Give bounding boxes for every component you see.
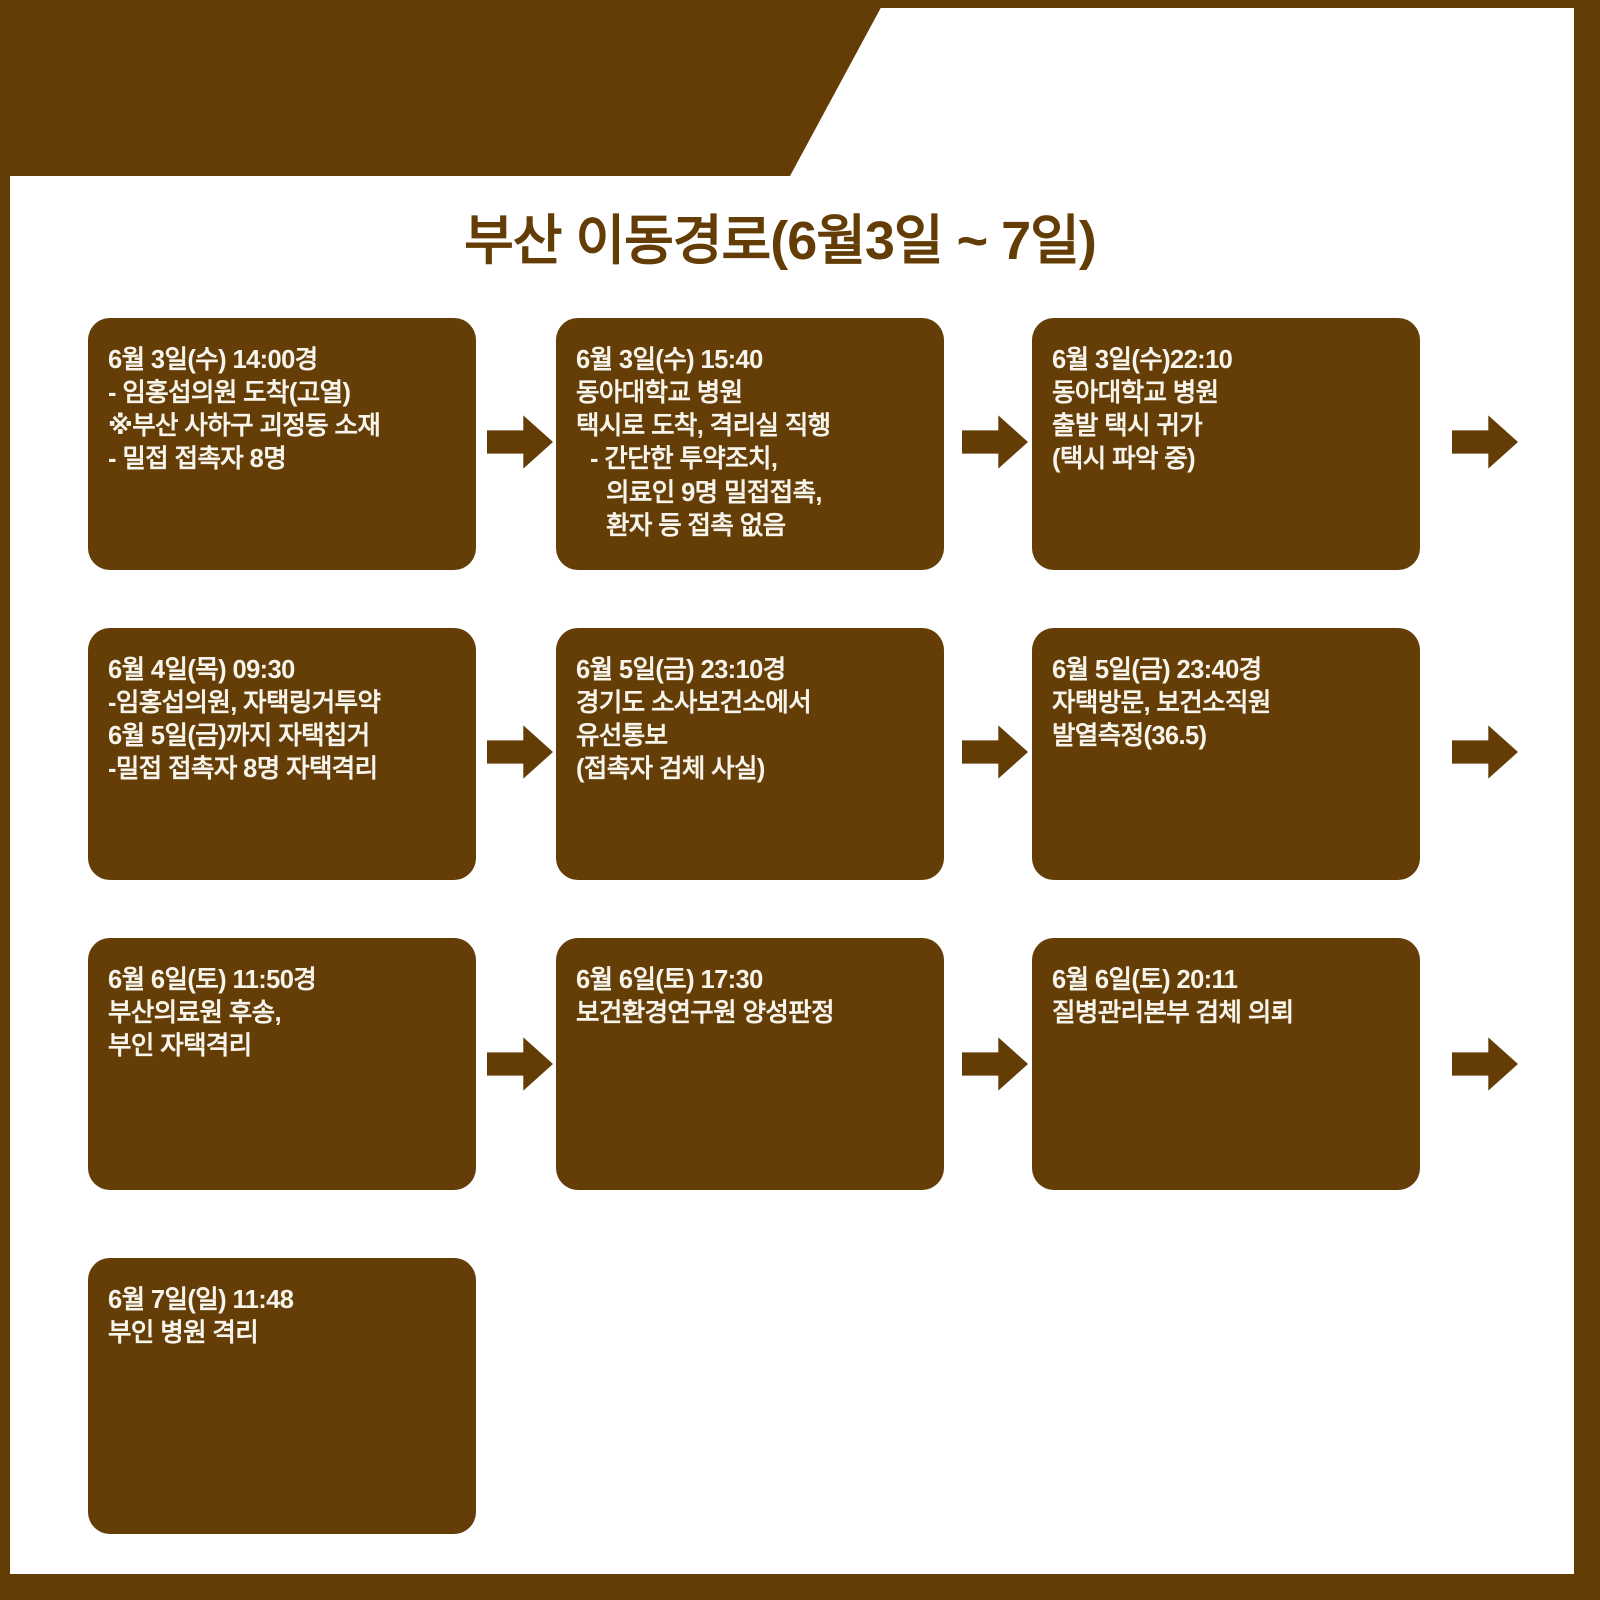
flow-step-line: 의료인 9명 밀접접촉,	[576, 477, 926, 510]
flow-step-line: - 밀접 접촉자 8명	[108, 443, 458, 476]
right-arrow-icon	[962, 1035, 1028, 1093]
flow-step-box: 6월 6일(토) 17:30보건환경연구원 양성판정	[556, 938, 944, 1190]
flow-step-line: 부산의료원 후송,	[108, 997, 458, 1030]
header-banner	[0, 0, 900, 176]
flow-step-line: 출발 택시 귀가	[1052, 410, 1402, 443]
flow-step-box: 6월 3일(수) 14:00경- 임홍섭의원 도착(고열)※부산 사하구 괴정동…	[88, 318, 476, 570]
flow-step-line: -임홍섭의원, 자택링거투약	[108, 687, 458, 720]
flow-step-line: 부인 병원 격리	[108, 1317, 458, 1350]
flow-step-line: 6월 5일(금) 23:10경	[576, 654, 926, 687]
flow-step-line: -밀접 접촉자 8명 자택격리	[108, 753, 458, 786]
flow-step-line: 동아대학교 병원	[1052, 377, 1402, 410]
flow-step-line: 경기도 소사보건소에서	[576, 687, 926, 720]
right-arrow-icon	[487, 723, 553, 781]
flow-step-line: 6월 3일(수)22:10	[1052, 344, 1402, 377]
flow-step-box: 6월 3일(수) 15:40동아대학교 병원택시로 도착, 격리실 직행- 간단…	[556, 318, 944, 570]
flow-step-box: 6월 6일(토) 20:11질병관리본부 검체 의뢰	[1032, 938, 1420, 1190]
flow-step-line: 환자 등 접촉 없음	[576, 510, 926, 543]
right-arrow-icon	[1452, 723, 1518, 781]
timeline-flow: 6월 3일(수) 14:00경- 임홍섭의원 도착(고열)※부산 사하구 괴정동…	[0, 0, 1600, 1600]
flow-step-line: 6월 5일(금)까지 자택칩거	[108, 720, 458, 753]
flow-step-line: - 임홍섭의원 도착(고열)	[108, 377, 458, 410]
right-arrow-icon	[962, 413, 1028, 471]
flow-step-line: 6월 5일(금) 23:40경	[1052, 654, 1402, 687]
flow-step-line: 자택방문, 보건소직원	[1052, 687, 1402, 720]
flow-step-line: 6월 6일(토) 17:30	[576, 964, 926, 997]
flow-step-line: 부인 자택격리	[108, 1030, 458, 1063]
flow-step-box: 6월 5일(금) 23:40경자택방문, 보건소직원발열측정(36.5)	[1032, 628, 1420, 880]
flow-step-line: 6월 3일(수) 14:00경	[108, 344, 458, 377]
right-arrow-icon	[962, 723, 1028, 781]
flow-step-line: 보건환경연구원 양성판정	[576, 997, 926, 1030]
flow-step-box: 6월 6일(토) 11:50경부산의료원 후송,부인 자택격리	[88, 938, 476, 1190]
flow-step-box: 6월 3일(수)22:10동아대학교 병원출발 택시 귀가(택시 파악 중)	[1032, 318, 1420, 570]
flow-step-line: 6월 7일(일) 11:48	[108, 1284, 458, 1317]
flow-step-line: 6월 3일(수) 15:40	[576, 344, 926, 377]
flow-step-box: 6월 7일(일) 11:48부인 병원 격리	[88, 1258, 476, 1534]
flow-step-line: 6월 6일(토) 20:11	[1052, 964, 1402, 997]
flow-step-line: 동아대학교 병원	[576, 377, 926, 410]
right-arrow-icon	[1452, 1035, 1518, 1093]
flow-step-box: 6월 4일(목) 09:30-임홍섭의원, 자택링거투약6월 5일(금)까지 자…	[88, 628, 476, 880]
flow-step-line: 6월 4일(목) 09:30	[108, 654, 458, 687]
flow-step-line: 발열측정(36.5)	[1052, 720, 1402, 753]
flow-step-line: - 간단한 투약조치,	[576, 443, 926, 476]
flow-step-line: 유선통보	[576, 720, 926, 753]
flow-step-line: (택시 파악 중)	[1052, 443, 1402, 476]
infographic-page: 부산 메르스 양성환자 이동경로 부산 이동경로(6월3일 ~ 7일) 6월 3…	[0, 0, 1600, 1600]
flow-step-line: (접촉자 검체 사실)	[576, 753, 926, 786]
right-arrow-icon	[487, 413, 553, 471]
right-arrow-icon	[487, 1035, 553, 1093]
flow-step-box: 6월 5일(금) 23:10경경기도 소사보건소에서유선통보(접촉자 검체 사실…	[556, 628, 944, 880]
flow-step-line: ※부산 사하구 괴정동 소재	[108, 410, 458, 443]
flow-step-line: 택시로 도착, 격리실 직행	[576, 410, 926, 443]
flow-step-line: 질병관리본부 검체 의뢰	[1052, 997, 1402, 1030]
right-arrow-icon	[1452, 413, 1518, 471]
flow-step-line: 6월 6일(토) 11:50경	[108, 964, 458, 997]
